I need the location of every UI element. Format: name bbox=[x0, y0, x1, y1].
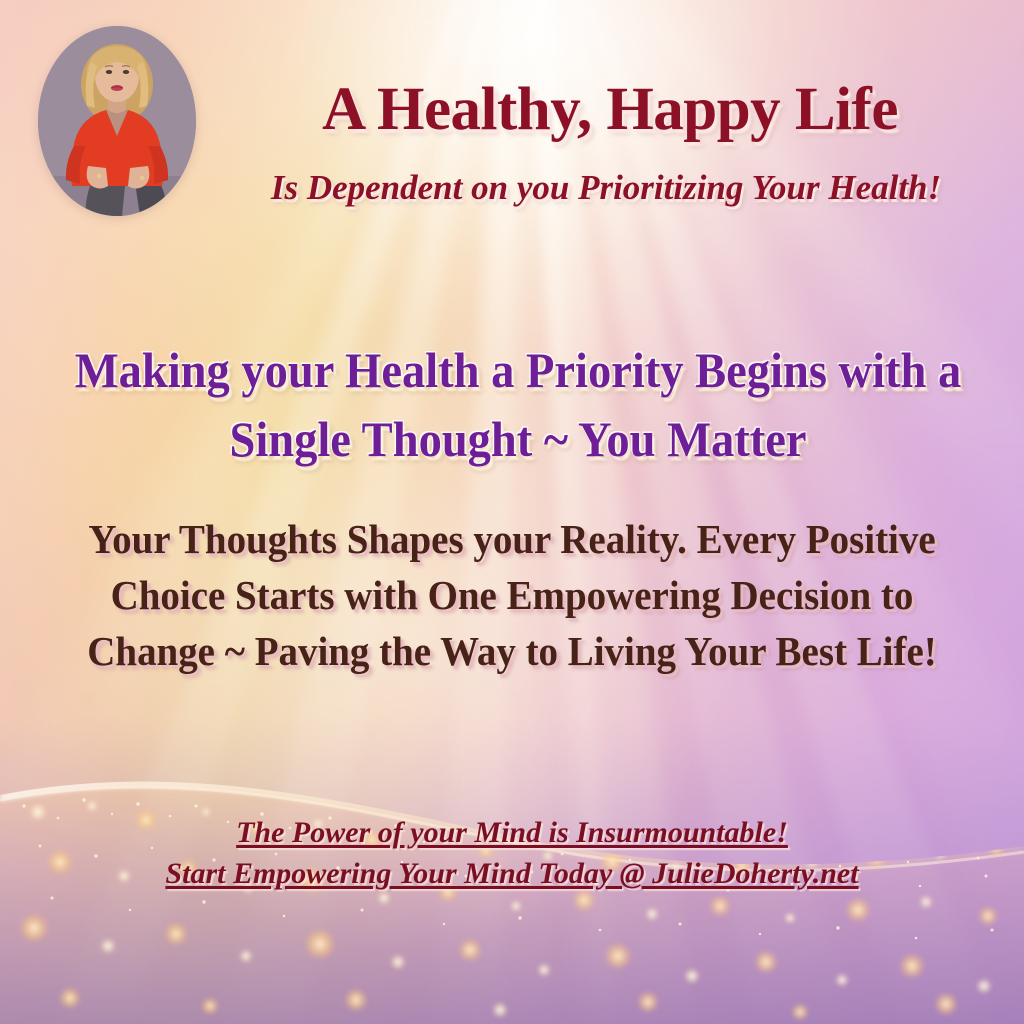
body-paragraph: Your Thoughts Shapes your Reality. Every… bbox=[50, 512, 973, 679]
footer-line-2[interactable]: Start Empowering Your Mind Today @ Julie… bbox=[62, 853, 962, 894]
portrait-photo-of-blonde-woman-in-red-blouse bbox=[38, 26, 196, 216]
poster-canvas: A Healthy, Happy Life Is Dependent on yo… bbox=[0, 0, 1024, 1024]
footer-call-to-action: The Power of your Mind is Insurmountable… bbox=[62, 812, 962, 895]
main-headline: Making your Health a Priority Begins wit… bbox=[73, 336, 962, 474]
avatar bbox=[38, 26, 196, 216]
page-title: A Healthy, Happy Life bbox=[210, 78, 1010, 142]
page-subtitle: Is Dependent on you Prioritizing Your He… bbox=[200, 168, 1012, 208]
footer-line-1: The Power of your Mind is Insurmountable… bbox=[62, 812, 962, 853]
